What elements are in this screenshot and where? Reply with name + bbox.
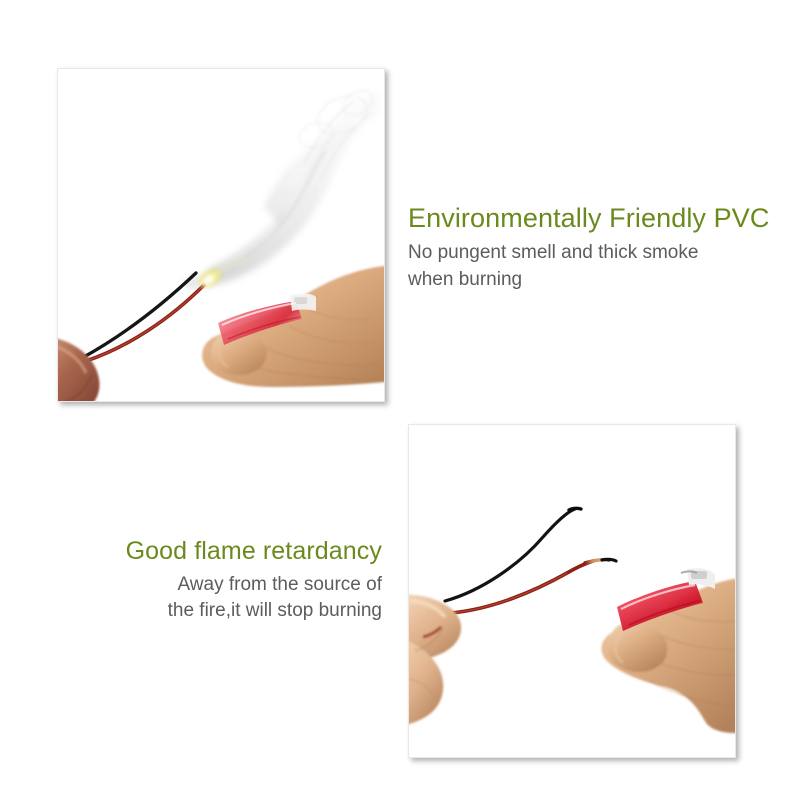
feature-body-retardancy: Away from the source of the fire,it will…	[60, 572, 382, 626]
feature-text-good-flame-retardancy: Good flame retardancy Away from the sour…	[60, 537, 382, 625]
photo-panel-wire-burning	[57, 68, 385, 402]
wire-burning-illustration	[58, 69, 384, 401]
feature-body-line: No pungent smell and thick smoke	[408, 240, 788, 267]
black-wire-tip	[569, 508, 581, 510]
feature-body-pvc: No pungent smell and thick smoke when bu…	[408, 240, 788, 294]
feature-heading-pvc: Environmentally Friendly PVC	[408, 203, 788, 235]
photo-stage-extinguished	[409, 425, 735, 757]
feature-body-line: when burning	[408, 267, 788, 294]
wire-self-extinguished-illustration	[409, 425, 735, 757]
photo-panel-wire-self-extinguished	[408, 424, 736, 758]
infographic-canvas: Environmentally Friendly PVC No pungent …	[0, 0, 800, 800]
feature-text-environmentally-friendly-pvc: Environmentally Friendly PVC No pungent …	[408, 203, 788, 294]
photo-stage-burning	[58, 69, 384, 401]
feature-body-line: Away from the source of	[60, 572, 382, 599]
feature-heading-retardancy: Good flame retardancy	[60, 537, 382, 567]
feature-body-line: the fire,it will stop burning	[60, 598, 382, 625]
